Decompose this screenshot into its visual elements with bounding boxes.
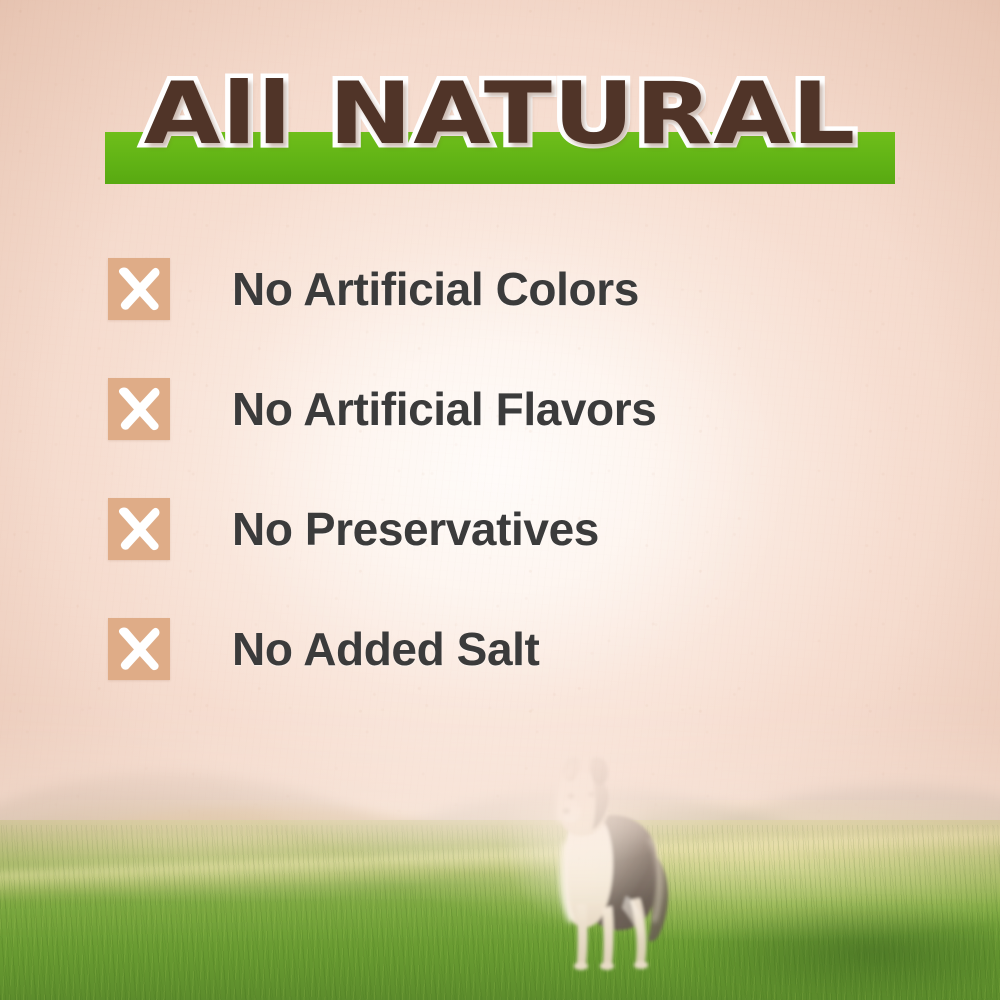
feature-row: No Artificial Flavors [108, 378, 928, 440]
feature-row: No Preservatives [108, 498, 928, 560]
headline-text: All NATURAL [0, 62, 1000, 166]
feature-label: No Added Salt [232, 618, 539, 680]
photo-haze-overlay [0, 680, 1000, 1000]
x-mark-icon [108, 618, 170, 680]
headline-block: All NATURAL [0, 62, 1000, 192]
x-mark-icon [108, 378, 170, 440]
x-mark-icon [108, 498, 170, 560]
feature-label: No Artificial Colors [232, 258, 639, 320]
feature-list: No Artificial Colors No Artificial Flavo… [108, 258, 928, 680]
poster: All NATURAL No Artificial Colors No Arti… [0, 0, 1000, 1000]
feature-label: No Preservatives [232, 498, 599, 560]
feature-row: No Artificial Colors [108, 258, 928, 320]
feature-label: No Artificial Flavors [232, 378, 656, 440]
feature-row: No Added Salt [108, 618, 928, 680]
landscape-photo [0, 680, 1000, 1000]
x-mark-icon [108, 258, 170, 320]
